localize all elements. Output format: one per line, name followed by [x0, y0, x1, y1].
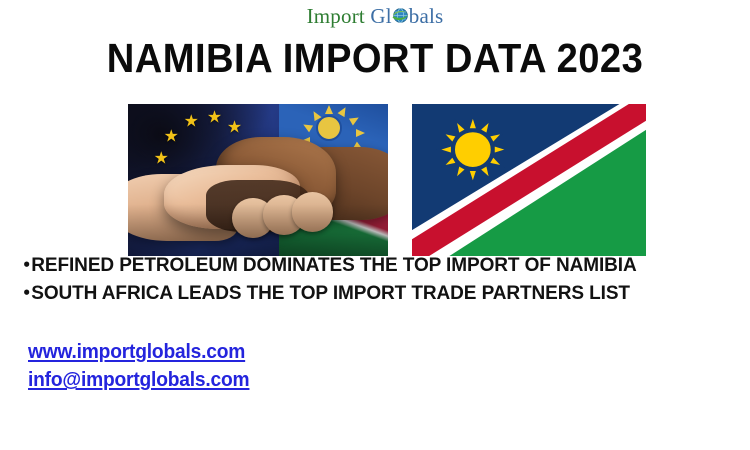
brand-logo[interactable]: Import Gl bals	[0, 6, 750, 27]
handshake-illustration	[128, 104, 388, 256]
slide-canvas: Import Gl bals NAMIBIA IMPORT DATA 2023	[0, 0, 750, 450]
namibia-flag-graphic	[412, 104, 646, 256]
bullet-item-2: •SOUTH AFRICA LEADS THE TOP IMPORT TRADE…	[22, 280, 714, 308]
email-link[interactable]: info@importglobals.com	[28, 366, 249, 394]
namibia-flag-image	[412, 104, 646, 256]
brand-word-bals: bals	[409, 4, 444, 28]
bullet-text: SOUTH AFRICA LEADS THE TOP IMPORT TRADE …	[31, 282, 630, 304]
bullet-list: •REFINED PETROLEUM DOMINATES THE TOP IMP…	[22, 252, 732, 307]
brand-word-import: Import	[307, 4, 365, 28]
brand-word-gl: Gl	[370, 4, 391, 28]
globe-icon	[392, 7, 409, 24]
bullet-marker: •	[22, 256, 31, 274]
contact-block: www.importglobals.com info@importglobals…	[28, 338, 259, 395]
bullet-item-1: •REFINED PETROLEUM DOMINATES THE TOP IMP…	[22, 252, 714, 280]
bullet-text: REFINED PETROLEUM DOMINATES THE TOP IMPO…	[31, 254, 636, 276]
handshake-image	[128, 104, 388, 256]
bullet-marker: •	[22, 284, 31, 302]
photo-shadow	[128, 204, 388, 256]
page-title: NAMIBIA IMPORT DATA 2023	[26, 37, 724, 80]
website-link[interactable]: www.importglobals.com	[28, 338, 249, 366]
media-row	[88, 88, 606, 240]
